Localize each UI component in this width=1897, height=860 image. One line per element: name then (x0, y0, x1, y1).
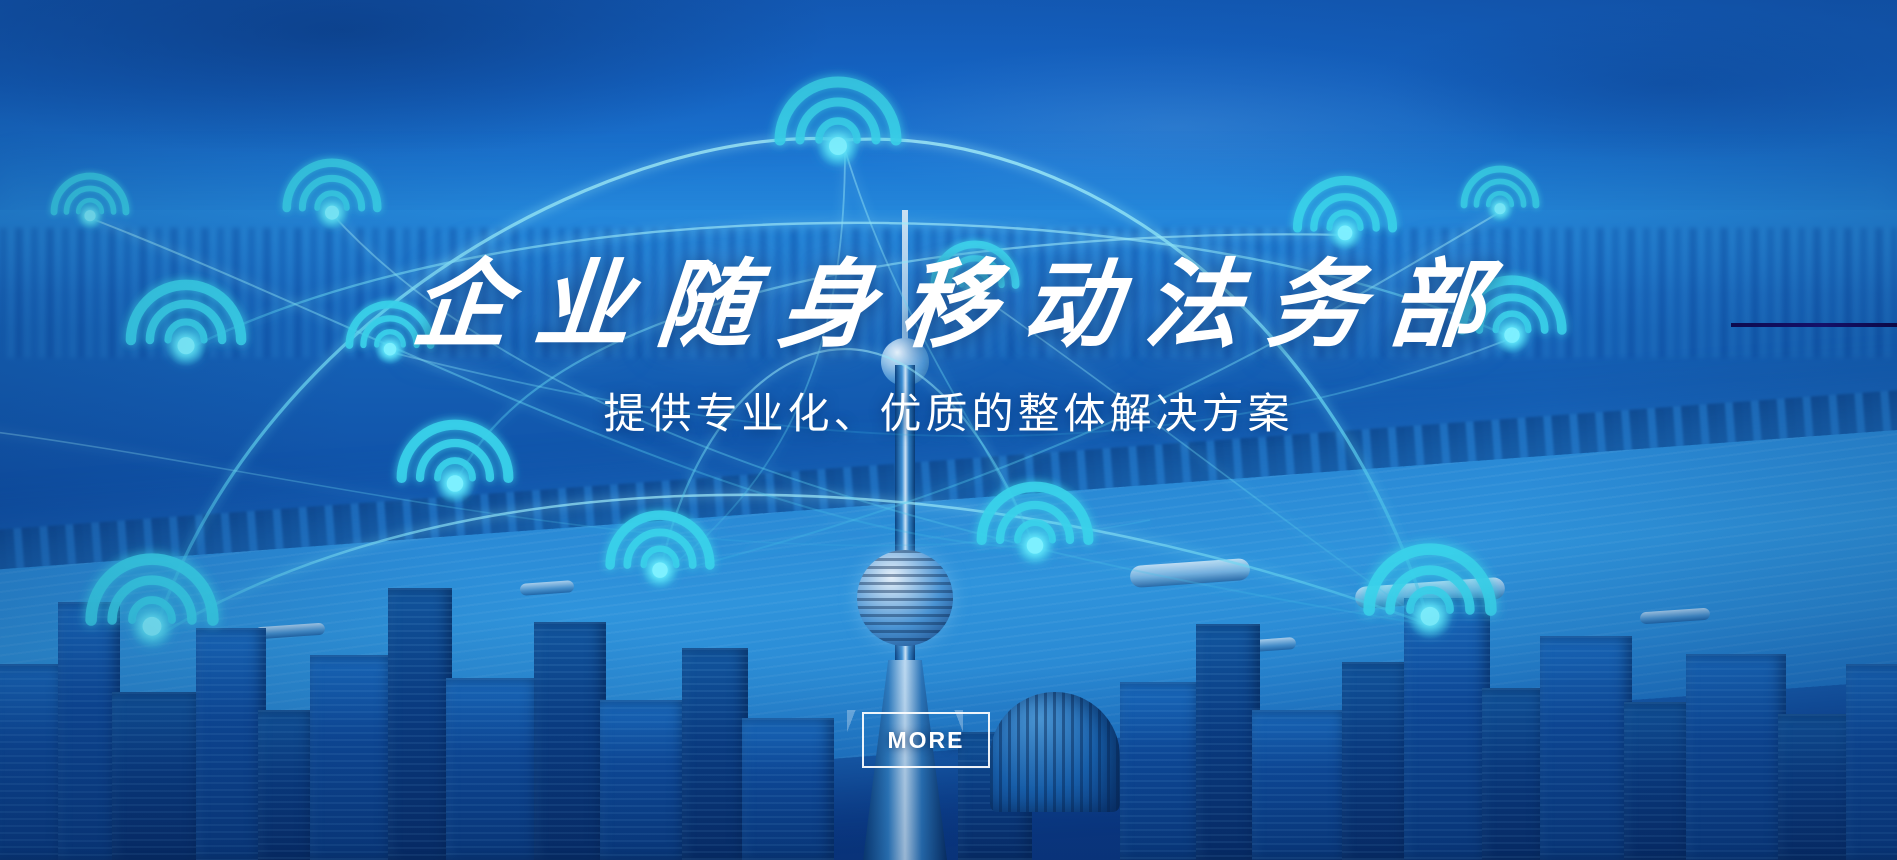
more-button[interactable]: MORE (862, 712, 990, 768)
accent-divider-line (1731, 323, 1897, 327)
hero-banner: 企业随身移动法务部 提供专业化、优质的整体解决方案 MORE (0, 0, 1897, 860)
page-title: 企业随身移动法务部 (382, 255, 1515, 356)
page-subtitle: 提供专业化、优质的整体解决方案 (603, 380, 1293, 441)
